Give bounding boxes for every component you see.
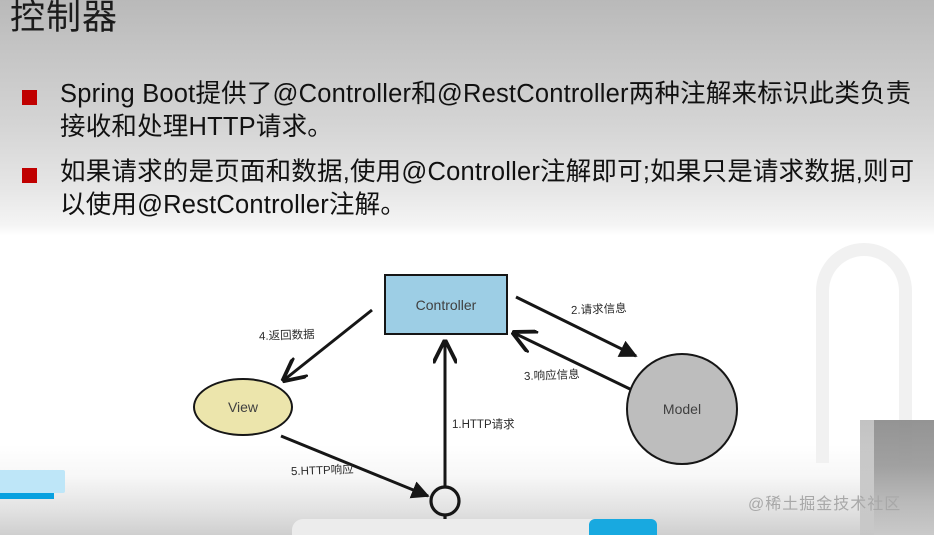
- bullet-text: Spring Boot提供了@Controller和@RestControlle…: [60, 78, 923, 144]
- node-view[interactable]: View: [193, 378, 293, 436]
- bullet-text: 如果请求的是页面和数据,使用@Controller注解即可;如果只是请求数据,则…: [60, 156, 923, 222]
- slide-canvas: 控制器 Spring Boot提供了@Controller和@RestContr…: [0, 0, 934, 535]
- node-model-label: Model: [663, 401, 701, 417]
- bottom-toolbar-pill[interactable]: [292, 519, 622, 535]
- bottom-primary-button[interactable]: [589, 519, 657, 535]
- list-item: Spring Boot提供了@Controller和@RestControlle…: [18, 78, 923, 144]
- node-view-label: View: [228, 399, 258, 415]
- square-bullet-icon: [22, 90, 37, 105]
- square-bullet-icon: [22, 168, 37, 183]
- arrow-label-step1: 1.HTTP请求: [452, 416, 515, 432]
- highlight-bar: [0, 493, 54, 499]
- arrow-label-step4: 4.返回数据: [259, 326, 315, 344]
- node-controller-label: Controller: [416, 297, 477, 313]
- node-controller[interactable]: Controller: [384, 274, 508, 335]
- arrow-label-step2: 2.请求信息: [571, 300, 627, 318]
- watermark: @稀土掘金技术社区: [748, 490, 901, 514]
- list-item: 如果请求的是页面和数据,使用@Controller注解即可;如果只是请求数据,则…: [18, 156, 923, 222]
- bullet-list: Spring Boot提供了@Controller和@RestControlle…: [18, 78, 923, 234]
- arrow-label-step3: 3.响应信息: [524, 366, 580, 384]
- page-title: 控制器: [10, 0, 118, 40]
- node-model[interactable]: Model: [626, 353, 738, 465]
- highlight-block: [0, 470, 65, 493]
- arrow-label-step5: 5.HTTP响应: [291, 461, 354, 479]
- arrow-controller-to-view: [284, 310, 372, 380]
